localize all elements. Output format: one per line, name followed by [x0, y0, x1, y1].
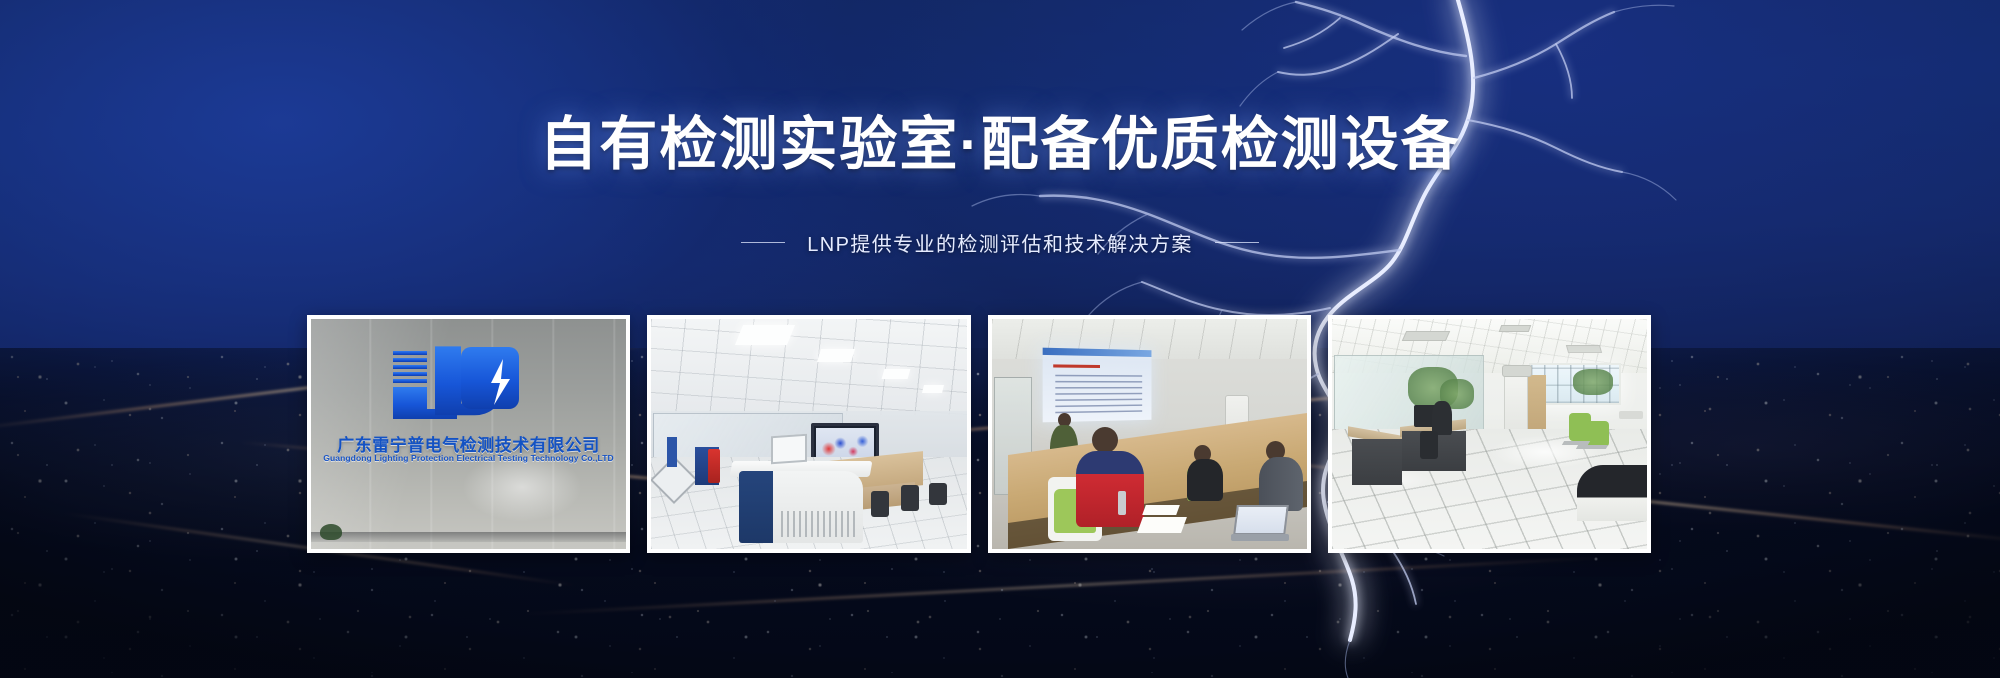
plant-decor — [320, 524, 342, 540]
gallery-item-signage[interactable]: 广东雷宁普电气检测技术有限公司 Guangdong Lighting Prote… — [307, 315, 630, 553]
chair-frame — [1562, 441, 1590, 445]
lab-equipment — [667, 437, 677, 467]
visitor-chair — [1587, 421, 1609, 447]
slide-heading — [1053, 364, 1100, 368]
control-console-side — [739, 471, 773, 543]
laptop-screen — [1233, 505, 1289, 535]
photo-testing-laboratory — [651, 319, 967, 549]
ceiling-light — [817, 349, 855, 362]
slide-titlebar — [1043, 348, 1152, 357]
document-paper — [1142, 505, 1180, 515]
office-chair — [901, 485, 919, 511]
person-seated-middle — [1187, 459, 1223, 501]
console-vents — [781, 511, 855, 537]
office-chair — [871, 491, 889, 517]
slide-body-text — [1055, 375, 1142, 416]
divider-rule-left — [741, 242, 785, 243]
gallery-item-laboratory[interactable] — [647, 315, 971, 553]
reception-counter — [1577, 465, 1647, 521]
laptop-base — [1231, 534, 1289, 541]
photo-company-signage: 广东雷宁普电气检测技术有限公司 Guangdong Lighting Prote… — [311, 319, 626, 549]
projector-screen — [1043, 348, 1152, 423]
foliage-outside-window — [1573, 369, 1613, 395]
ceiling-light — [882, 369, 911, 379]
person-seated-foreground — [1076, 451, 1144, 527]
lab-equipment — [708, 449, 720, 483]
water-bottle — [1118, 491, 1126, 515]
chair-frame — [1576, 445, 1608, 449]
ceiling-vent — [1499, 325, 1532, 332]
counter-items — [1619, 411, 1643, 419]
office-chair — [1420, 431, 1438, 459]
photo-meeting-room — [992, 319, 1307, 549]
person-working — [1432, 401, 1452, 435]
page-title: 自有检测实验室·配备优质检测设备 — [539, 112, 1460, 178]
wall-ac-unit — [1502, 365, 1532, 377]
divider-rule-right — [1215, 242, 1259, 243]
photo-office-area — [1332, 319, 1647, 549]
hero-banner: 自有检测实验室·配备优质检测设备 LNP提供专业的检测评估和技术解决方案 — [0, 0, 2000, 678]
office-chair — [929, 483, 947, 505]
lnp-logo-icon — [387, 343, 537, 421]
ceiling-light — [735, 325, 795, 345]
person-seated-right — [1259, 457, 1303, 511]
photo-gallery-strip: 广东雷宁普电气检测技术有限公司 Guangdong Lighting Prote… — [307, 315, 1651, 553]
console-monitor — [771, 434, 807, 465]
page-subtitle: LNP提供专业的检测评估和技术解决方案 — [807, 228, 1193, 257]
ceiling-vent — [1566, 345, 1602, 353]
laptop — [1231, 505, 1289, 541]
ceiling-vent — [1402, 331, 1450, 341]
floor-line — [311, 532, 626, 542]
subtitle-container: LNP提供专业的检测评估和技术解决方案 — [0, 228, 2000, 257]
gallery-item-office[interactable] — [1328, 315, 1651, 553]
ceiling-grid — [651, 319, 967, 415]
desk-body — [1352, 439, 1402, 485]
ceiling-light — [922, 385, 944, 393]
document-paper — [1137, 517, 1187, 533]
person-head — [1092, 427, 1118, 453]
gallery-item-meeting[interactable] — [988, 315, 1311, 553]
headline-container: 自有检测实验室·配备优质检测设备 — [0, 112, 2000, 178]
signage-company-name-en: Guangdong Lighting Protection Electrical… — [311, 453, 626, 463]
